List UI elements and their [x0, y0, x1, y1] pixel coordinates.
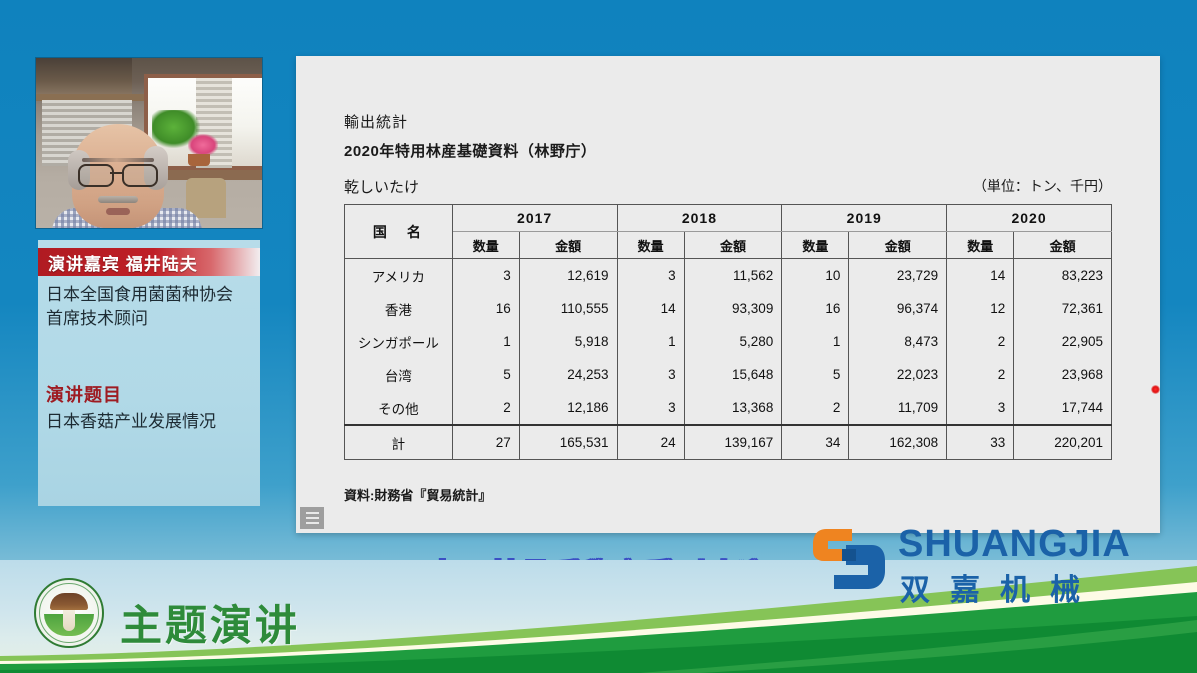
- cell: 22,905: [1014, 325, 1112, 358]
- video-flower-pot: [188, 154, 210, 166]
- sg-monogram-icon: [812, 527, 886, 593]
- subheader-2017-qty: 数量: [452, 232, 519, 259]
- subheader-2018-amt: 金額: [684, 232, 782, 259]
- row-label: 計: [345, 425, 453, 460]
- cell: 24: [617, 425, 684, 460]
- subheader-2020-amt: 金額: [1014, 232, 1112, 259]
- cell: 12,619: [519, 259, 617, 293]
- band-title: 主题演讲: [120, 592, 300, 653]
- cell: 5: [782, 358, 849, 391]
- subheader-2018-qty: 数量: [617, 232, 684, 259]
- speaker-name-banner: 演讲嘉宾 福井陆夫: [38, 248, 260, 276]
- cell: 1: [782, 325, 849, 358]
- table-row-total: 計 27 165,531 24 139,167 34 162,308 33 22…: [345, 425, 1112, 460]
- subheader-2019-qty: 数量: [782, 232, 849, 259]
- table-row: アメリカ 3 12,619 3 11,562 10 23,729 14 83,2…: [345, 259, 1112, 293]
- logo-name-cn: 双嘉机械: [900, 565, 1100, 609]
- cell: 15,648: [684, 358, 782, 391]
- cell: 24,253: [519, 358, 617, 391]
- subheader-2020-qty: 数量: [947, 232, 1014, 259]
- cell: 5,918: [519, 325, 617, 358]
- column-header-year-2019: 2019: [782, 205, 947, 232]
- export-statistics-table: 国 名 2017 2018 2019 2020 数量 金額 数量 金額 数量 金…: [344, 204, 1112, 460]
- glasses-icon: [78, 164, 158, 184]
- cell: 16: [452, 292, 519, 325]
- table-row: 台湾 5 24,253 3 15,648 5 22,023 2 23,968: [345, 358, 1112, 391]
- slide-unit-note: （単位：トン、千円）: [973, 176, 1112, 196]
- cell: 3: [452, 259, 519, 293]
- slide-heading: 輸出統計: [344, 111, 408, 132]
- speaker-info-panel: [38, 240, 260, 506]
- cell: 162,308: [849, 425, 947, 460]
- cell: 2: [452, 391, 519, 425]
- cell: 12: [947, 292, 1014, 325]
- speaker-organization: 日本全国食用菌菌种协会 首席技术顾问: [46, 283, 256, 331]
- subheader-2017-amt: 金額: [519, 232, 617, 259]
- cell: 165,531: [519, 425, 617, 460]
- table-row: シンガポール 1 5,918 1 5,280 1 8,473 2 22,905: [345, 325, 1112, 358]
- badge-mushroom-stem: [63, 607, 75, 631]
- row-label: アメリカ: [345, 259, 453, 293]
- video-person-mustache: [98, 196, 138, 203]
- cell: 2: [782, 391, 849, 425]
- cell: 1: [617, 325, 684, 358]
- cell: 11,709: [849, 391, 947, 425]
- cell: 33: [947, 425, 1014, 460]
- table-row: その他 2 12,186 3 13,368 2 11,709 3 17,744: [345, 391, 1112, 425]
- cell: 23,968: [1014, 358, 1112, 391]
- column-header-country: 国 名: [345, 205, 453, 259]
- cell: 13,368: [684, 391, 782, 425]
- cell: 12,186: [519, 391, 617, 425]
- cell: 2: [947, 358, 1014, 391]
- presentation-slide[interactable]: 輸出統計 2020年特用林産基礎資料（林野庁） 乾しいたけ （単位：トン、千円）…: [296, 56, 1160, 533]
- slide-source-note: 資料:財務省『貿易統計』: [344, 485, 491, 504]
- cell: 110,555: [519, 292, 617, 325]
- cell: 2: [947, 325, 1014, 358]
- video-person-mouth: [106, 208, 130, 215]
- column-header-year-2018: 2018: [617, 205, 782, 232]
- cell: 93,309: [684, 292, 782, 325]
- logo-name: SHUANGJIA: [898, 523, 1131, 566]
- cell: 14: [947, 259, 1014, 293]
- cell: 14: [617, 292, 684, 325]
- laser-pointer-icon: [1151, 385, 1160, 394]
- table-header-row-sub: 数量 金額 数量 金額 数量 金額 数量 金額: [345, 232, 1112, 259]
- cell: 17,744: [1014, 391, 1112, 425]
- column-header-year-2017: 2017: [452, 205, 617, 232]
- cell: 10: [782, 259, 849, 293]
- slide-subheading: 2020年特用林産基礎資料（林野庁）: [344, 140, 596, 161]
- row-label: 台湾: [345, 358, 453, 391]
- row-label: その他: [345, 391, 453, 425]
- column-header-year-2020: 2020: [947, 205, 1112, 232]
- cell: 11,562: [684, 259, 782, 293]
- video-shelf: [36, 58, 132, 96]
- cell: 8,473: [849, 325, 947, 358]
- screen: 演讲嘉宾 福井陆夫 日本全国食用菌菌种协会 首席技术顾问 演讲题目 日本香菇产业…: [0, 0, 1197, 673]
- cell: 1: [452, 325, 519, 358]
- speaker-org-line-2: 首席技术顾问: [46, 307, 256, 331]
- cell: 34: [782, 425, 849, 460]
- badge-mushroom-cap: [50, 593, 88, 610]
- subheader-2019-amt: 金額: [849, 232, 947, 259]
- table-row: 香港 16 110,555 14 93,309 16 96,374 12 72,…: [345, 292, 1112, 325]
- cell: 23,729: [849, 259, 947, 293]
- row-label: シンガポール: [345, 325, 453, 358]
- sponsor-logo: SHUANGJIA 双嘉机械: [812, 521, 1192, 599]
- cell: 3: [617, 259, 684, 293]
- cell: 5: [452, 358, 519, 391]
- cell: 5,280: [684, 325, 782, 358]
- cell: 3: [617, 358, 684, 391]
- mushroom-conference-badge-icon: [34, 578, 104, 648]
- speaker-org-line-1: 日本全国食用菌菌种协会: [46, 283, 256, 307]
- row-label: 香港: [345, 292, 453, 325]
- speaker-video[interactable]: [36, 58, 262, 228]
- cell: 3: [947, 391, 1014, 425]
- cell: 220,201: [1014, 425, 1112, 460]
- cell: 72,361: [1014, 292, 1112, 325]
- cell: 3: [617, 391, 684, 425]
- table-header-row-years: 国 名 2017 2018 2019 2020: [345, 205, 1112, 232]
- cell: 139,167: [684, 425, 782, 460]
- video-person-brows: [82, 158, 154, 162]
- cell: 22,023: [849, 358, 947, 391]
- speaker-name-label: 演讲嘉宾 福井陆夫: [38, 250, 198, 275]
- topic-label: 演讲题目: [46, 381, 122, 407]
- cell: 16: [782, 292, 849, 325]
- list-icon[interactable]: [300, 507, 324, 529]
- slide-item-label: 乾しいたけ: [344, 176, 419, 197]
- cell: 96,374: [849, 292, 947, 325]
- table-head: 国 名 2017 2018 2019 2020 数量 金額 数量 金額 数量 金…: [345, 205, 1112, 259]
- cell: 83,223: [1014, 259, 1112, 293]
- topic-text: 日本香菇产业发展情况: [46, 410, 260, 434]
- table-body: アメリカ 3 12,619 3 11,562 10 23,729 14 83,2…: [345, 259, 1112, 460]
- cell: 27: [452, 425, 519, 460]
- video-flowers: [188, 134, 218, 156]
